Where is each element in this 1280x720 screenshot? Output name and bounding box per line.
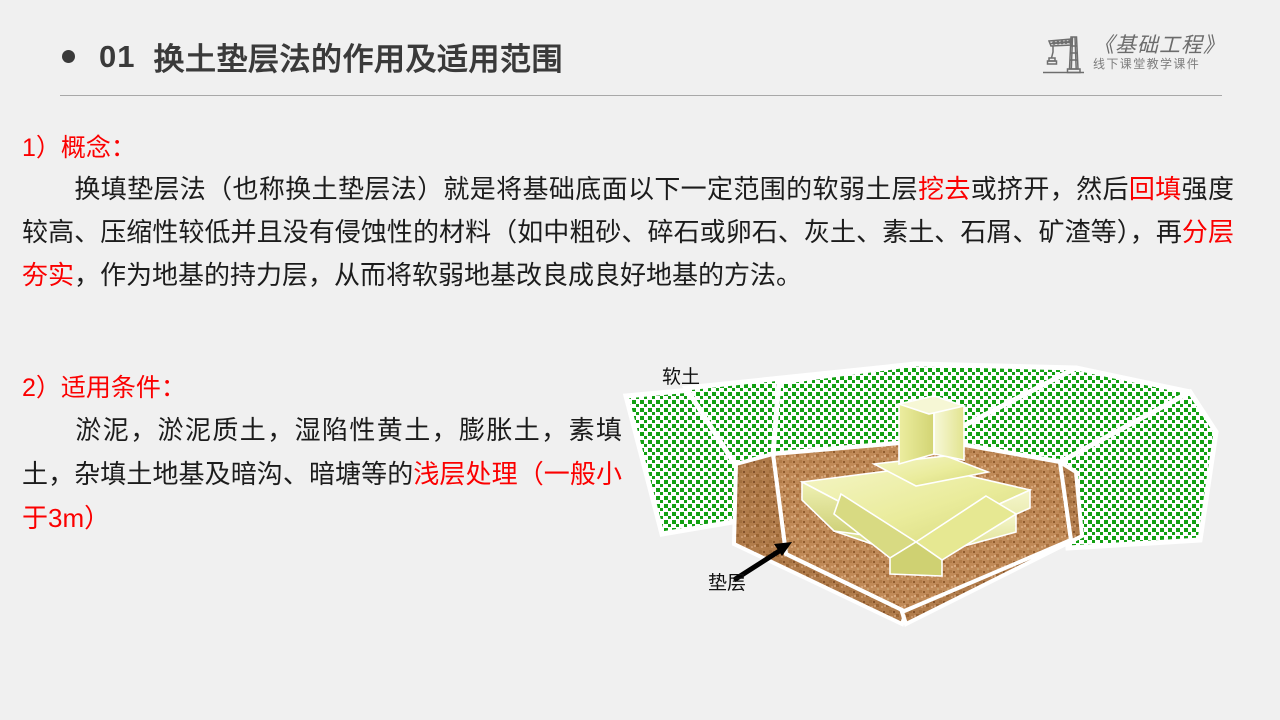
section2-paragraph: 淤泥，淤泥质土，湿陷性黄土，膨胀土，素填土，杂填土地基及暗沟、暗塘等的浅层处理（…	[22, 408, 622, 540]
slide-root: 01 换土垫层法的作用及适用范围	[0, 0, 1280, 720]
header-divider	[60, 95, 1222, 96]
section2-heading: 2）适用条件：	[22, 372, 622, 406]
page-title: 01 换土垫层法的作用及适用范围	[62, 34, 563, 79]
brand-title: 《基础工程》	[1093, 33, 1225, 57]
section-conditions: 2）适用条件： 淤泥，淤泥质土，湿陷性黄土，膨胀土，素填土，杂填土地基及暗沟、暗…	[22, 372, 622, 540]
title-label: 换土垫层法的作用及适用范围	[153, 34, 563, 79]
section-concept: 1）概念： 换填垫层法（也称换土垫层法）就是将基础底面以下一定范围的软弱土层挖去…	[22, 132, 1234, 297]
brand-text: 《基础工程》 线下课堂教学课件	[1093, 33, 1225, 72]
slide-header: 01 换土垫层法的作用及适用范围	[0, 0, 1280, 104]
brand-subtitle: 线下课堂教学课件	[1093, 58, 1225, 72]
s1-text-b: 或挤开，然后	[971, 174, 1129, 204]
s1-text-d: ，作为地基的持力层，从而将软弱地基改良成良好地基的方法。	[74, 260, 802, 290]
s1-hl-2: 回填	[1129, 174, 1182, 204]
section1-paragraph: 换填垫层法（也称换土垫层法）就是将基础底面以下一定范围的软弱土层挖去或挤开，然后…	[22, 168, 1234, 297]
brand-logo: 《基础工程》 线下课堂教学课件	[1038, 28, 1225, 76]
diagram-label-cushion: 垫层	[708, 568, 746, 595]
diagram-label-soft-soil: 软土	[662, 362, 700, 389]
bullet-icon	[62, 50, 75, 63]
foundation-cushion-diagram: 软土 垫层	[616, 344, 1280, 634]
s1-text-a: 换填垫层法（也称换土垫层法）就是将基础底面以下一定范围的软弱土层	[74, 174, 918, 204]
section1-heading: 1）概念：	[22, 132, 1234, 166]
gantry-crane-icon	[1038, 28, 1086, 76]
s1-hl-1: 挖去	[918, 174, 971, 204]
title-number: 01	[99, 39, 135, 75]
